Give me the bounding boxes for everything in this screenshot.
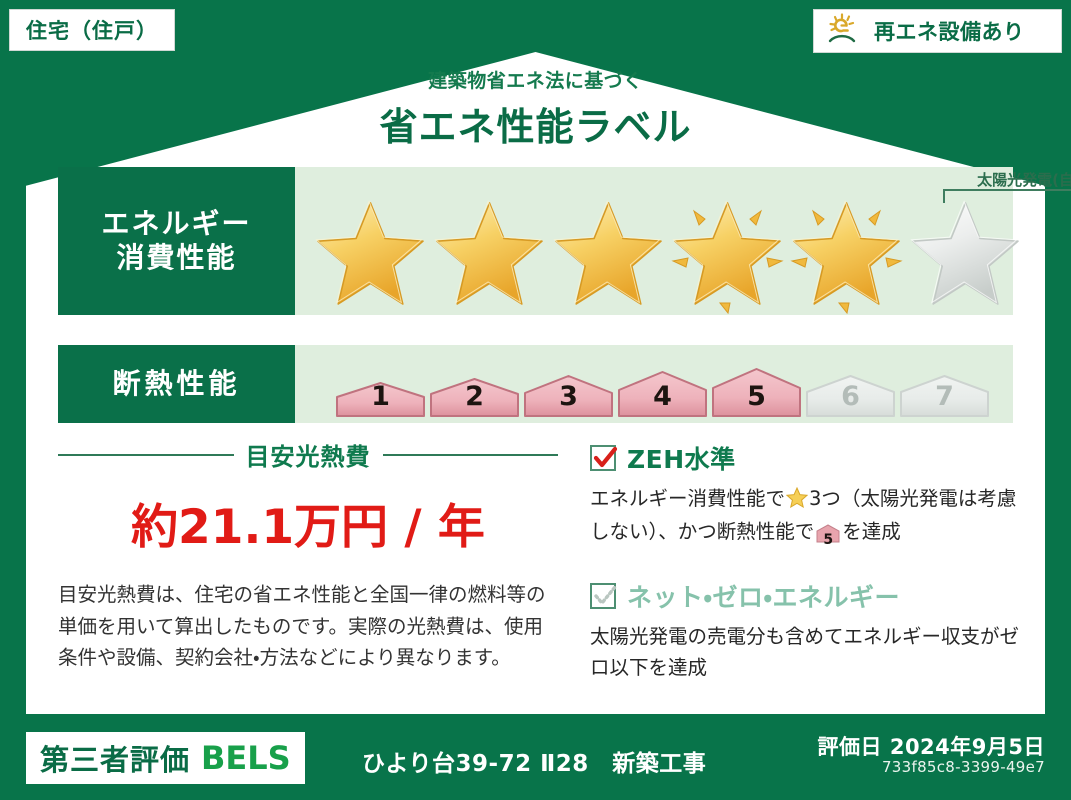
star-6-empty	[908, 199, 1023, 307]
renewable-badge-label: 再エネ設備あり	[874, 16, 1025, 46]
grade-row: 1 2	[335, 367, 990, 418]
heading-rule-left	[58, 454, 234, 456]
building-type-label: 住宅（住戸）	[26, 15, 158, 45]
energy-caption-line2: 消費性能	[116, 241, 236, 275]
insulation-grade-1-achieved: 1	[335, 381, 426, 418]
star-1-filled	[313, 199, 428, 307]
star-glyph	[670, 199, 785, 314]
criterion-net-zero-head: ネット・ゼロ・エネルギー	[590, 578, 1025, 614]
checkbox-checked-icon	[590, 445, 616, 471]
title-subtitle: 建築物省エネ法に基づく	[0, 66, 1071, 93]
insulation-grade-area: 1 2	[295, 345, 1013, 423]
criterion-zeh: ZEH水準 エネルギー消費性能で 3つ（太陽光発電は考慮しない）、かつ断熱性能で…	[590, 440, 1025, 552]
grade-number: 7	[899, 381, 990, 412]
insulation-grade-5-achieved: 5	[711, 367, 802, 418]
star-glyph	[551, 199, 666, 314]
star-glyph	[789, 199, 904, 314]
utility-cost-note: 目安光熱費は、住宅の省エネ性能と全国一律の燃料等の単価を用いて算出したものです。…	[58, 579, 558, 674]
criterion-zeh-title: ZEH水準	[627, 440, 736, 476]
renewable-equipment-badge: 再エネ設備あり	[813, 9, 1062, 53]
evaluation-date-label: 評価日	[818, 735, 883, 759]
footer-bar: 第三者評価 BELS ひより台39-72 Ⅱ28 新築工事 評価日 2024年9…	[0, 714, 1071, 800]
utility-cost-value: 約21.1万円 / 年	[58, 488, 558, 557]
grade-number: 1	[335, 381, 426, 412]
grade-number: 6	[805, 381, 896, 412]
evaluation-id: 733f85c8-3399-49e7	[882, 758, 1045, 776]
grade-number: 5	[711, 381, 802, 412]
bels-logo-box: 第三者評価 BELS	[26, 732, 305, 784]
page-title: 省エネ性能ラベル	[0, 96, 1071, 151]
criterion-net-zero: ネット・ゼロ・エネルギー 太陽光発電の売電分も含めてエネルギー収支がゼロ以下を達…	[590, 578, 1025, 682]
utility-cost-block: 目安光熱費 約21.1万円 / 年 目安光熱費は、住宅の省エネ性能と全国一律の燃…	[58, 437, 558, 674]
solar-sun-icon	[828, 13, 866, 49]
criterion-net-zero-description: 太陽光発電の売電分も含めてエネルギー収支がゼロ以下を達成	[590, 622, 1025, 682]
bels-jp-label: 第三者評価	[40, 737, 190, 779]
insulation-grade-3-achieved: 3	[523, 374, 614, 418]
inline-grade-number: 5	[816, 530, 840, 552]
insulation-grade-2-achieved: 2	[429, 377, 520, 418]
grade-number: 3	[523, 381, 614, 412]
evaluation-date: 評価日 2024年9月5日	[818, 731, 1045, 761]
star-glyph	[313, 199, 428, 314]
evaluation-date-value: 2024年9月5日	[890, 735, 1045, 759]
energy-performance-panel: エネルギー 消費性能 太陽光発電(自家消費)分	[58, 167, 1013, 315]
criteria-block: ZEH水準 エネルギー消費性能で 3つ（太陽光発電は考慮しない）、かつ断熱性能で…	[590, 440, 1025, 683]
checkbox-unchecked-icon	[590, 583, 616, 609]
insulation-caption-label: 断熱性能	[112, 367, 240, 401]
criterion-zeh-description: エネルギー消費性能で 3つ（太陽光発電は考慮しない）、かつ断熱性能で 5を達成	[590, 484, 1025, 552]
star-rating-area: 太陽光発電(自家消費)分	[295, 167, 1013, 315]
energy-performance-caption: エネルギー 消費性能	[58, 167, 295, 315]
insulation-grade-7-inactive: 7	[899, 374, 990, 418]
utility-cost-label: 目安光熱費	[246, 437, 371, 472]
building-type-tag: 住宅（住戸）	[9, 9, 175, 51]
energy-caption-line1: エネルギー	[101, 207, 251, 241]
zeh-desc-part1: エネルギー消費性能で	[590, 487, 785, 510]
insulation-grade-6-inactive: 6	[805, 374, 896, 418]
heading-rule-right	[383, 454, 559, 456]
inline-grade-badge: 5	[816, 522, 840, 552]
star-4-filled	[670, 199, 785, 307]
grade-number: 4	[617, 381, 708, 412]
insulation-performance-caption: 断熱性能	[58, 345, 295, 423]
star-glyph	[908, 199, 1023, 314]
star-5-filled	[789, 199, 904, 307]
label-title-block: 建築物省エネ法に基づく 省エネ性能ラベル	[0, 66, 1071, 151]
grade-number: 2	[429, 381, 520, 412]
insulation-performance-panel: 断熱性能 1	[58, 345, 1013, 423]
star-2-filled	[432, 199, 547, 307]
solar-self-consumption-note: 太陽光発電(自家消費)分	[943, 169, 1071, 190]
utility-cost-heading: 目安光熱費	[58, 437, 558, 472]
criterion-zeh-head: ZEH水準	[590, 440, 1025, 476]
insulation-grade-4-achieved: 4	[617, 370, 708, 418]
property-name: ひより台39-72 Ⅱ28 新築工事	[362, 744, 706, 778]
zeh-desc-part2: を達成	[842, 520, 901, 543]
star-row	[313, 199, 1023, 307]
star-glyph	[432, 199, 547, 314]
inline-star-icon	[786, 487, 808, 517]
bels-en-label: BELS	[201, 739, 291, 777]
energy-label-root: 住宅（住戸） 再エネ設備あり 建築物省エネ法に基づく 省エネ性能ラ	[0, 0, 1071, 800]
criterion-net-zero-title: ネット・ゼロ・エネルギー	[627, 578, 900, 614]
star-3-filled	[551, 199, 666, 307]
